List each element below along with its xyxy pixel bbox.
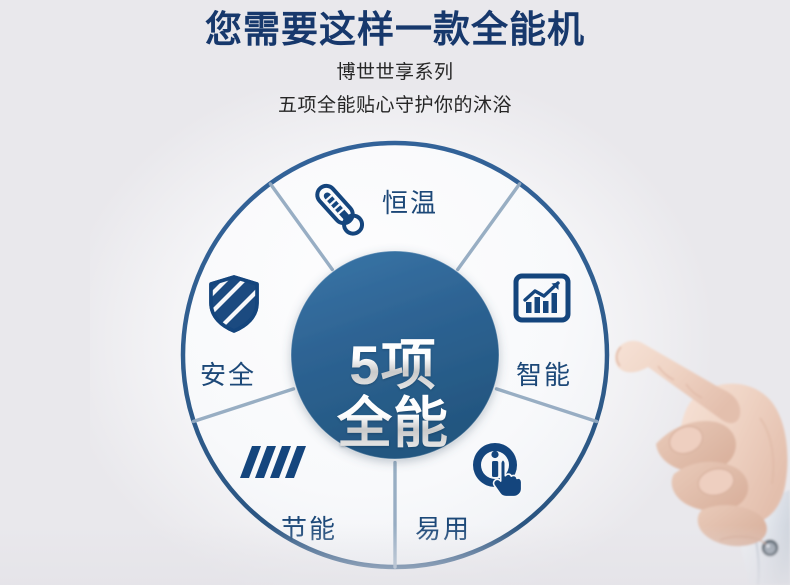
shield-icon [205, 273, 263, 335]
feature-label-safety: 安全 [200, 360, 256, 390]
promo-graphic: 您需要这样一款全能机 博世世享系列 五项全能贴心守护你的沐浴 [0, 0, 790, 585]
info-hand-pointer-icon [468, 440, 524, 498]
feature-label-smart: 智能 [516, 360, 572, 390]
subtitle-line-1: 博世世享系列 [0, 52, 790, 85]
chart-growth-icon [513, 271, 571, 329]
energy-bars-icon [238, 444, 308, 484]
pointing-hand-photo [600, 322, 790, 585]
feature-label-easy-use: 易用 [415, 514, 471, 544]
subtitle-line-2: 五项全能贴心守护你的沐浴 [0, 85, 790, 118]
feature-label-energy-save: 节能 [281, 514, 337, 544]
header: 您需要这样一款全能机 博世世享系列 五项全能贴心守护你的沐浴 [0, 0, 790, 118]
page-title: 您需要这样一款全能机 [0, 0, 790, 52]
thermometer-icon [306, 176, 372, 242]
feature-label-thermostatic: 恒温 [382, 188, 438, 218]
